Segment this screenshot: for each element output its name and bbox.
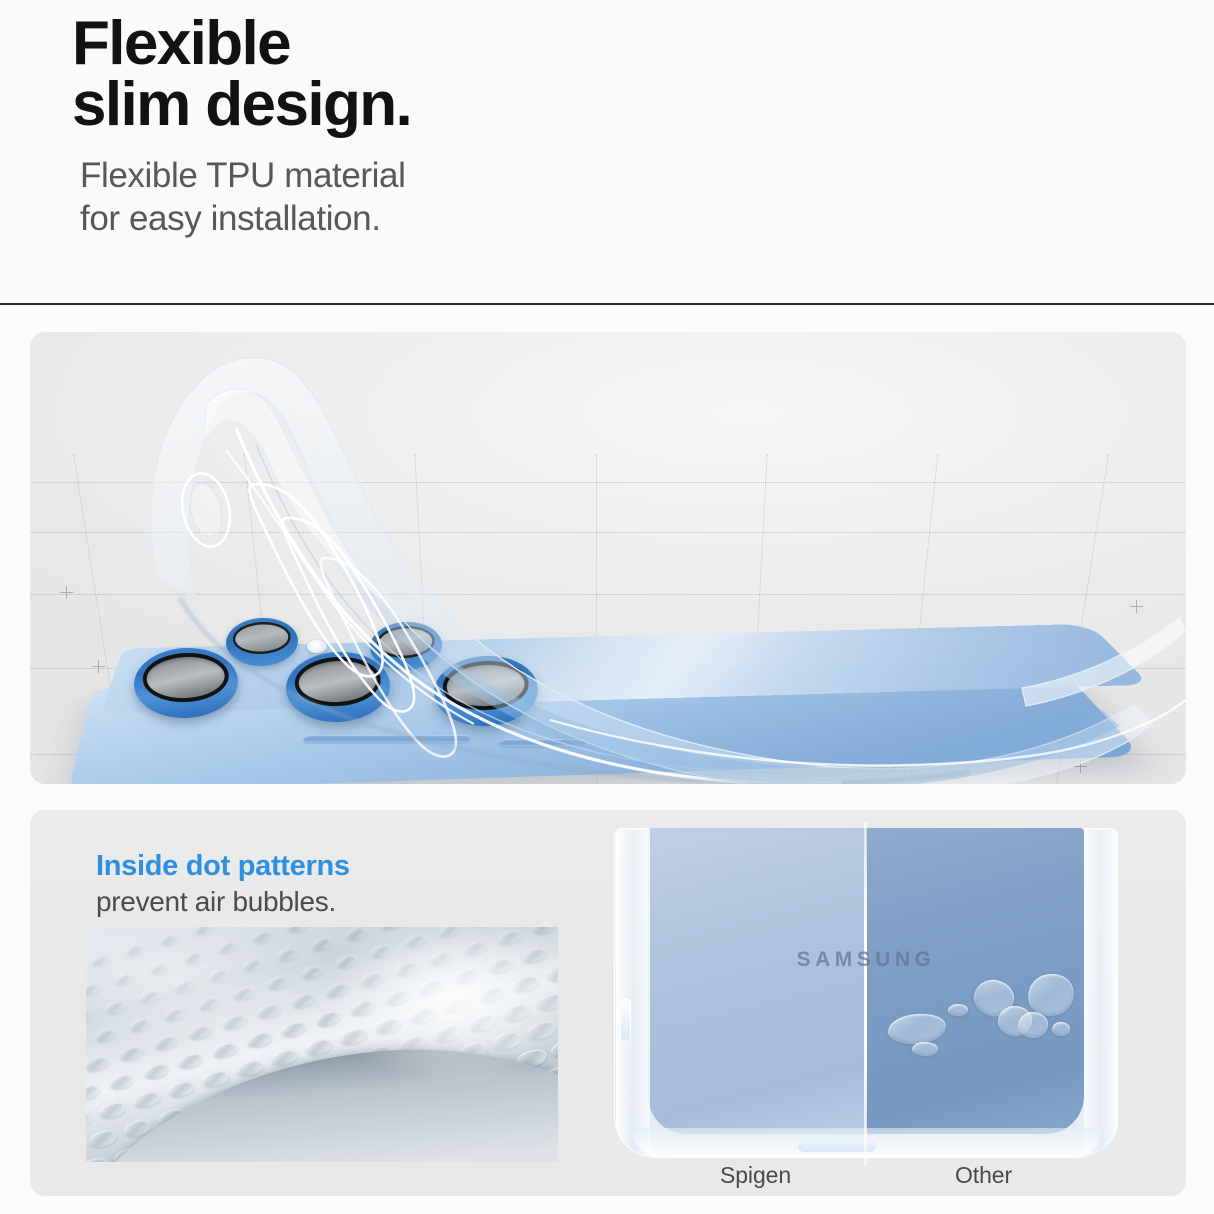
pattern-dot	[466, 1012, 497, 1034]
pattern-dot	[104, 999, 127, 1015]
pattern-dot	[438, 927, 463, 939]
pattern-dot	[335, 953, 360, 970]
pattern-dot	[549, 1036, 558, 1061]
pattern-dot	[94, 1027, 119, 1044]
comparison-divider	[864, 822, 867, 1166]
page-title: Flexible slim design.	[72, 14, 692, 136]
pattern-dot	[418, 977, 446, 997]
pattern-dot	[535, 991, 558, 1013]
air-bubble	[1052, 1022, 1070, 1036]
pattern-dot	[432, 1022, 463, 1044]
header-text-block: Flexible slim design. Flexible TPU mater…	[0, 0, 1214, 304]
pattern-dot	[124, 944, 144, 958]
pattern-dot	[242, 957, 265, 973]
pattern-dot	[114, 971, 135, 986]
pattern-dot	[86, 1155, 110, 1162]
pattern-dot	[152, 1034, 178, 1053]
air-bubble	[887, 1011, 948, 1047]
headline-line-1: Flexible	[72, 9, 290, 78]
pattern-dot	[193, 927, 213, 936]
pattern-dot	[511, 973, 541, 994]
pattern-dot	[86, 1055, 110, 1074]
pattern-dot	[177, 1051, 205, 1071]
pattern-dot	[339, 1026, 369, 1047]
pattern-dot	[138, 989, 161, 1005]
pattern-dot	[276, 947, 299, 963]
product-feature-page: Flexible slim design. Flexible TPU mater…	[0, 0, 1214, 1214]
pattern-dot	[325, 981, 351, 1000]
pattern-dot	[404, 932, 429, 949]
pattern-dot	[497, 928, 523, 947]
pattern-dot	[197, 995, 222, 1012]
pattern-dot	[359, 971, 385, 990]
case-right-rim	[550, 616, 1186, 765]
air-bubble	[1018, 1012, 1048, 1038]
subhead-line-1: Flexible TPU material	[80, 156, 406, 195]
pattern-dot	[407, 1005, 437, 1026]
pattern-dot	[349, 998, 377, 1018]
pattern-dot	[300, 964, 325, 981]
other-side-surface	[866, 828, 1084, 1134]
air-bubble	[912, 1042, 938, 1056]
pattern-dot	[442, 995, 472, 1016]
pattern-dot	[476, 984, 506, 1005]
pattern-dot	[383, 988, 411, 1008]
pattern-dot	[207, 968, 230, 984]
pattern-dot	[221, 1013, 247, 1032]
pattern-dot	[231, 985, 256, 1002]
device-brand-logo: SAMSUNG	[602, 948, 1130, 972]
pattern-dot	[183, 950, 204, 965]
page-subtitle: Flexible TPU material for easy installat…	[80, 155, 720, 240]
pattern-dot	[428, 949, 454, 968]
pattern-dot	[545, 963, 558, 984]
pattern-dot	[217, 940, 238, 955]
dot-pattern-subtitle: prevent air bubbles.	[96, 886, 336, 918]
pattern-dot	[369, 943, 394, 960]
pattern-dot	[252, 929, 273, 944]
pattern-dot	[159, 933, 179, 947]
pattern-dot	[246, 1030, 274, 1050]
dot-pattern-panel: Inside dot patterns prevent air bubbles.	[30, 810, 1186, 1196]
pattern-dot	[304, 1037, 334, 1058]
pattern-dot	[379, 927, 402, 931]
case-right-edge	[1084, 830, 1118, 1156]
pattern-dot	[86, 1082, 101, 1102]
pattern-dot	[86, 1110, 93, 1131]
pattern-dot	[531, 927, 557, 937]
pattern-dot	[149, 961, 170, 976]
pattern-dot	[472, 927, 497, 929]
pattern-dot	[490, 1029, 523, 1053]
pattern-dot	[201, 1068, 231, 1089]
headline-line-2: slim design.	[72, 75, 692, 136]
pattern-dot	[132, 1089, 162, 1110]
pattern-dot	[118, 1044, 144, 1063]
pattern-dot	[373, 1016, 403, 1037]
pattern-dot	[187, 1023, 213, 1042]
comparison-label-other: Other	[955, 1162, 1012, 1189]
pattern-dot	[166, 1079, 196, 1100]
comparison-image: SAMSUNG	[602, 822, 1130, 1166]
comparison-label-spigen: Spigen	[720, 1162, 791, 1189]
clear-tpu-case	[30, 332, 1186, 784]
hero-image-panel: SAMSUNG	[30, 332, 1186, 784]
side-button-cutout-icon	[620, 998, 631, 1042]
pattern-dot	[280, 1019, 308, 1039]
pattern-dot	[142, 1061, 170, 1081]
pattern-dot	[286, 927, 307, 934]
subhead-line-2: for easy installation.	[80, 198, 720, 241]
pattern-dot	[90, 954, 110, 968]
pattern-dot	[345, 927, 368, 942]
pattern-dot	[487, 956, 515, 976]
pattern-dot	[290, 992, 316, 1011]
dot-pattern-title: Inside dot patterns	[96, 850, 350, 883]
pattern-dot	[452, 967, 480, 987]
pattern-dot	[462, 939, 488, 958]
pattern-dot	[525, 1019, 558, 1043]
pattern-dot	[501, 1001, 532, 1023]
pattern-dot	[108, 1072, 136, 1092]
pattern-dot	[311, 936, 334, 952]
dot-pattern-macro-image	[86, 927, 558, 1162]
pattern-dot	[163, 1006, 188, 1023]
air-bubble	[948, 1004, 968, 1016]
pattern-dot	[98, 1100, 128, 1121]
pattern-dot	[128, 1016, 153, 1033]
pattern-dot	[393, 960, 419, 979]
pattern-dot	[521, 946, 549, 966]
pattern-dot	[86, 1010, 93, 1026]
pattern-dot	[256, 1002, 282, 1021]
pattern-dot	[87, 1128, 118, 1150]
spigen-side-surface	[648, 828, 866, 1134]
case-left-edge	[616, 830, 650, 1156]
pattern-dot	[86, 982, 101, 997]
pattern-dot	[266, 974, 291, 991]
pattern-dot	[173, 978, 196, 994]
header-divider	[0, 303, 1214, 305]
pattern-dot	[314, 1009, 342, 1029]
pattern-dot	[211, 1040, 239, 1060]
pattern-dot	[555, 935, 558, 955]
